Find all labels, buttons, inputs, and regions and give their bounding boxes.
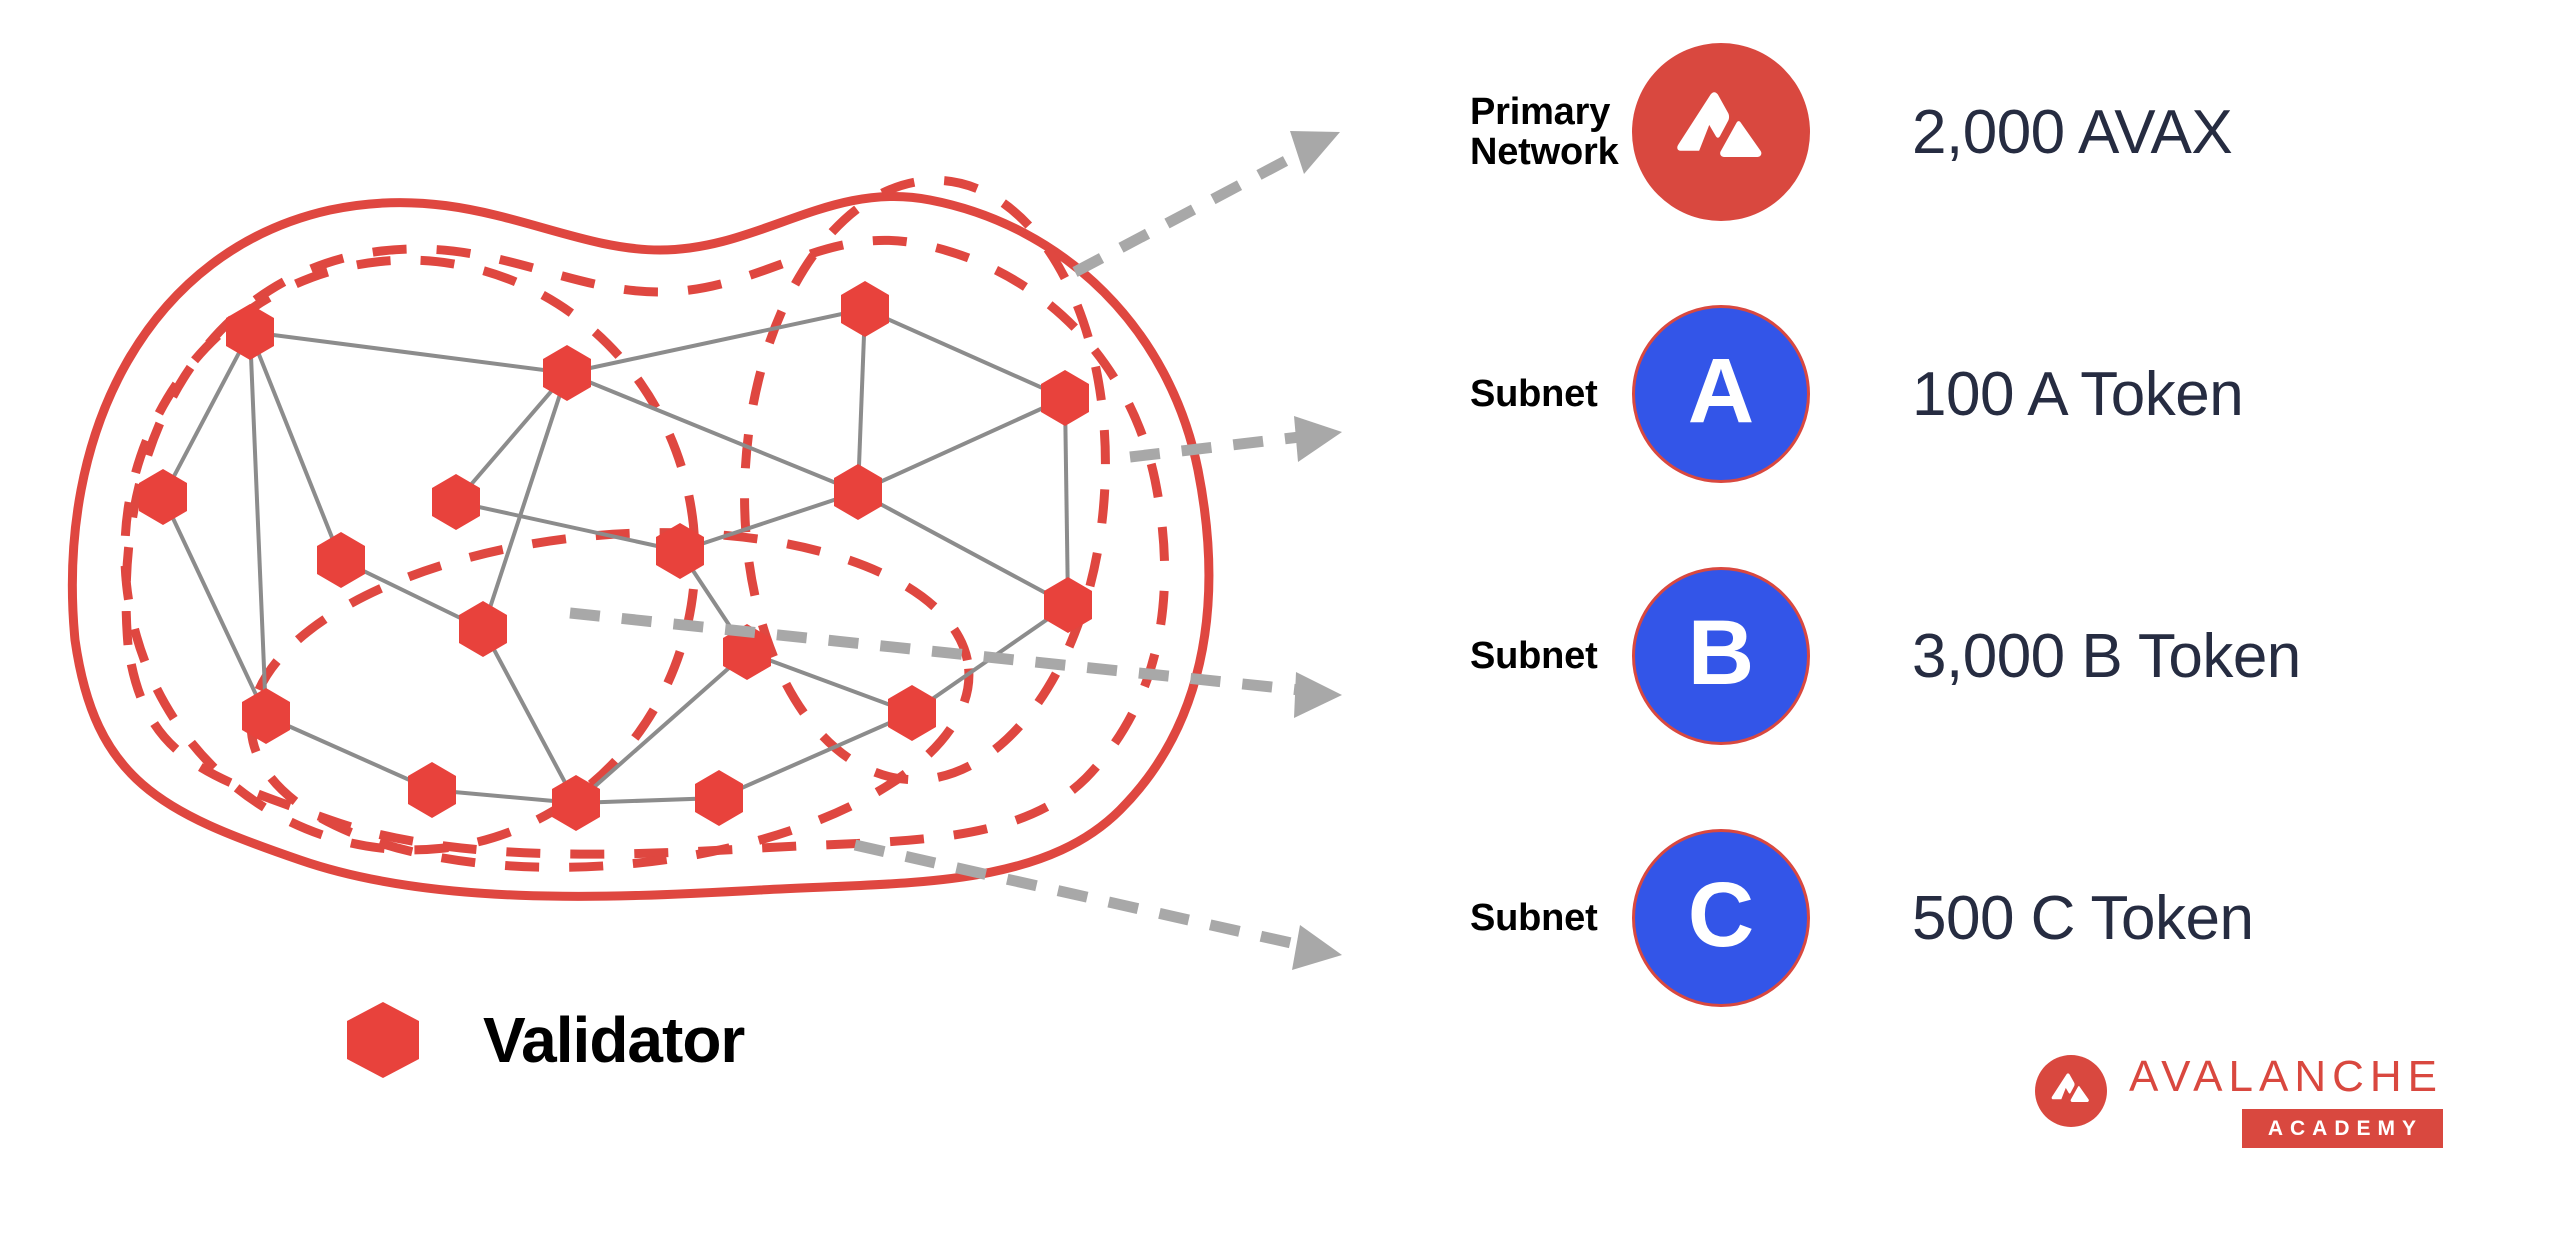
row-primary-network[interactable]: Primary Network 2,000 AVAX xyxy=(1360,32,2232,232)
row-label-subnet-b: Subnet xyxy=(1360,636,1630,676)
row-label-line2: Network xyxy=(1470,132,1630,172)
row-label-subnet-a: Subnet xyxy=(1360,374,1630,414)
row-subnet-a[interactable]: Subnet A 100 A Token xyxy=(1360,294,2243,494)
subnet-a-circle: A xyxy=(1632,305,1810,483)
subnet-b-circle: B xyxy=(1632,567,1810,745)
validator-node[interactable] xyxy=(459,601,507,657)
validator-node[interactable] xyxy=(1044,577,1092,633)
hexagon-icon xyxy=(345,1000,421,1080)
logo-academy-badge: ACADEMY xyxy=(2242,1109,2443,1148)
subnet-b-letter: B xyxy=(1688,607,1754,699)
validator-node[interactable] xyxy=(317,532,365,588)
amount-subnet-c: 500 C Token xyxy=(1812,883,2254,954)
logo-text: AVALANCHE ACADEMY xyxy=(2129,1055,2443,1148)
row-subnet-b[interactable]: Subnet B 3,000 B Token xyxy=(1360,556,2301,756)
subnet-a-letter: A xyxy=(1688,345,1754,437)
badge-subnet-b: B xyxy=(1630,567,1812,745)
row-label-line1: Subnet xyxy=(1470,374,1630,414)
avalanche-glyph-icon xyxy=(2048,1068,2094,1114)
avax-logo-icon xyxy=(1632,43,1810,221)
subnet-c-circle: C xyxy=(1632,829,1810,1007)
logo-wordmark: AVALANCHE xyxy=(2129,1055,2443,1099)
validator-legend-label: Validator xyxy=(483,1003,744,1077)
diagram-canvas: Primary Network 2,000 AVAX Subnet A xyxy=(0,0,2558,1258)
legend-rows: Primary Network 2,000 AVAX Subnet A xyxy=(1360,0,2558,1020)
avalanche-academy-logo: AVALANCHE ACADEMY xyxy=(2035,1055,2443,1148)
validator-node[interactable] xyxy=(841,281,889,337)
validator-node[interactable] xyxy=(226,304,274,360)
row-label-line1: Subnet xyxy=(1470,898,1630,938)
validator-node[interactable] xyxy=(888,685,936,741)
row-label-subnet-c: Subnet xyxy=(1360,898,1630,938)
validator-legend: Validator xyxy=(345,1000,744,1080)
amount-subnet-b: 3,000 B Token xyxy=(1812,621,2301,692)
row-label-line1: Subnet xyxy=(1470,636,1630,676)
amount-primary-network: 2,000 AVAX xyxy=(1812,97,2232,168)
callout-arrow-primary-network xyxy=(1075,131,1340,272)
badge-primary-network xyxy=(1630,43,1812,221)
row-label-primary-network: Primary Network xyxy=(1360,92,1630,173)
subnet-c-letter: C xyxy=(1688,869,1754,961)
callout-arrow-subnet-a xyxy=(1130,416,1342,462)
amount-subnet-a: 100 A Token xyxy=(1812,359,2243,430)
badge-subnet-a: A xyxy=(1630,305,1812,483)
validator-node[interactable] xyxy=(139,469,187,525)
badge-subnet-c: C xyxy=(1630,829,1812,1007)
validator-node[interactable] xyxy=(408,762,456,818)
row-subnet-c[interactable]: Subnet C 500 C Token xyxy=(1360,818,2254,1018)
validator-node[interactable] xyxy=(1041,370,1089,426)
row-label-line1: Primary xyxy=(1470,92,1630,132)
validator-node[interactable] xyxy=(834,464,882,520)
validator-node[interactable] xyxy=(695,770,743,826)
primary-network-inner-boundary xyxy=(126,240,1165,854)
avalanche-glyph-icon xyxy=(1669,80,1773,184)
callout-arrow-subnet-c xyxy=(855,845,1342,970)
avalanche-logo-icon xyxy=(2035,1055,2107,1127)
